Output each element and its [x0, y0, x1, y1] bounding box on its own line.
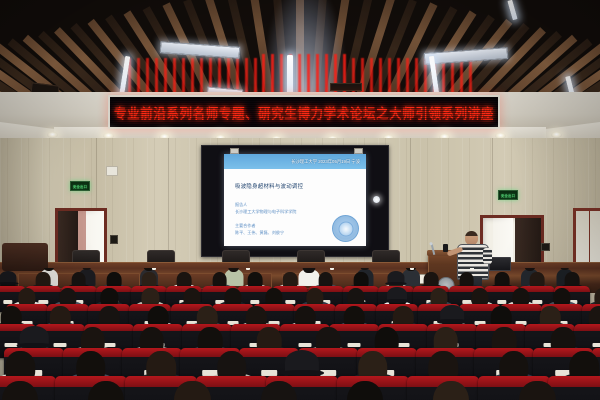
- baseball-cap-icon: [285, 350, 319, 375]
- person-head: [261, 381, 297, 400]
- paper-cup: [330, 268, 334, 270]
- projected-slide: 长沙理工大学 2023年05月19日 宁波 吸波隐身超材料与波动调控 报告人 长…: [224, 154, 366, 246]
- paper-cup: [246, 268, 250, 270]
- person-head: [88, 381, 124, 400]
- screen-light-spot: [373, 196, 380, 203]
- slide-affiliation: 长沙理工大学物理与电子科学学院: [235, 209, 296, 215]
- slide-presenter-label: 报告人: [235, 202, 247, 208]
- paper-cup: [410, 268, 414, 270]
- audience-seating-area: [0, 268, 600, 400]
- slide-header-bar: 长沙理工大学 2023年05月19日 宁波: [224, 154, 366, 169]
- baseball-cap-icon: [440, 305, 464, 323]
- audience-member: [429, 381, 473, 400]
- led-banner: 专业前沿系列名师专题、研究生博力学术论坛之大师引领系列讲座: [108, 95, 500, 129]
- person-head: [519, 381, 555, 400]
- baseball-cap-icon: [387, 287, 407, 302]
- wall-panel-seam: [168, 138, 169, 268]
- ceiling-tube-light: [507, 0, 517, 20]
- ceiling-tube-light: [287, 55, 293, 96]
- wall-panel-seam: [410, 138, 411, 268]
- audience-member: [257, 381, 301, 400]
- seat-number-tag: [299, 343, 312, 348]
- ceiling-red-led-reflection: [352, 58, 478, 96]
- university-crest-icon: [332, 215, 359, 242]
- baseball-cap-icon: [388, 271, 405, 284]
- speaker-right-arm: [483, 248, 492, 264]
- seat-number-tag: [593, 343, 600, 348]
- led-banner-text: 专业前沿系列名师专题、研究生博力学术论坛之大师引领系列讲座: [114, 101, 494, 122]
- presentation-clicker-icon: [443, 244, 448, 252]
- audience-member: [84, 381, 128, 400]
- baseball-cap-icon: [20, 326, 49, 347]
- side-armchair: [2, 243, 48, 271]
- audience-member: [170, 381, 214, 400]
- exit-sign-left: 安全出口: [70, 181, 90, 191]
- projection-screen: 长沙理工大学 2023年05月19日 宁波 吸波隐身超材料与波动调控 报告人 长…: [201, 145, 389, 257]
- paper-cup: [152, 268, 156, 270]
- person-head: [433, 381, 469, 400]
- ceiling-vent: [330, 83, 362, 91]
- slatted-wood-ceiling: [0, 0, 600, 96]
- slide-collaborators: 陈平、王伟、黄磊、刘俊宁: [235, 230, 284, 236]
- person-head: [347, 381, 383, 400]
- light-switch-left[interactable]: [110, 235, 118, 244]
- baseball-cap-icon: [0, 271, 17, 284]
- exit-sign-right: 安全出口: [498, 190, 518, 200]
- audience-member: [343, 381, 387, 400]
- paper-cup: [470, 268, 474, 270]
- window-pane: [590, 211, 600, 269]
- seat-number-tag: [5, 343, 18, 348]
- window-pane: [576, 211, 589, 269]
- lecture-hall-photo: 专业前沿系列名师专题、研究生博力学术论坛之大师引领系列讲座 安全出口 安全出口: [0, 0, 600, 400]
- slide-title: 吸波隐身超材料与波动调控: [235, 182, 303, 190]
- seat-number-tag: [54, 343, 67, 348]
- person-head: [174, 381, 210, 400]
- slide-collaborators-label: 主要合作者: [235, 223, 255, 229]
- light-switch-right[interactable]: [541, 243, 550, 251]
- seat-number-tag: [348, 343, 361, 348]
- person-head: [2, 381, 38, 400]
- microphone-head-icon: [429, 242, 433, 246]
- audience-member: [0, 381, 42, 400]
- speaker-head: [465, 231, 478, 245]
- wall-sensor-box-left: [106, 166, 118, 176]
- slide-header-text: 长沙理工大学 2023年05月19日 宁波: [291, 159, 366, 165]
- seat-number-tag: [261, 370, 277, 376]
- audience-member: [515, 381, 559, 400]
